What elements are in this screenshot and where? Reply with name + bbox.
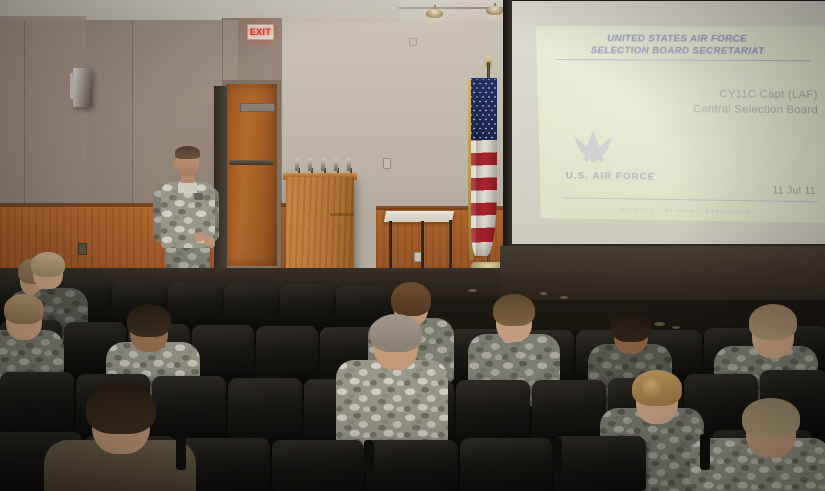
slide-body-line-1: CY11C Capt (LAF) (693, 87, 818, 103)
attendee-hair (370, 314, 422, 352)
auditorium-seat[interactable] (366, 440, 458, 491)
wall-outlet (409, 38, 417, 46)
attendee-hair (391, 282, 431, 316)
wall-panel-seam (132, 20, 133, 218)
slide-tagline: Integrity - Service - Excellence (541, 206, 825, 217)
podium-microphone (321, 158, 325, 171)
podium-shelf-line (330, 213, 354, 216)
officer-rank-insignia (194, 193, 203, 200)
auditorium-seat[interactable] (168, 282, 222, 328)
folding-table-top (384, 211, 454, 222)
flag-fold-shadow (476, 80, 484, 258)
slide-header-divider (557, 59, 811, 61)
slide-footer-divider (562, 197, 818, 202)
attendee-hair-bun (642, 378, 664, 397)
table-leg (449, 220, 452, 268)
seat-armrest (552, 438, 562, 472)
auditorium-seat[interactable] (554, 436, 646, 491)
ceiling-spot-light (426, 9, 443, 18)
attendee-hair (611, 308, 651, 342)
projected-slide: UNITED STATES AIR FORCE SELECTION BOARD … (536, 26, 825, 223)
auditorium-seat[interactable] (192, 325, 254, 379)
auditorium-seat[interactable] (0, 372, 74, 438)
podium-microphone (347, 158, 351, 171)
flag-stars (471, 79, 497, 139)
slide-date-label: 11 Jul 11 (772, 185, 816, 197)
auditorium-seat[interactable] (456, 380, 530, 446)
officer-hair (175, 146, 200, 159)
attendee-hair (742, 398, 800, 438)
floor-scuff-mark (468, 289, 477, 292)
attendee-hair (31, 252, 65, 277)
attendee-hair (493, 294, 535, 326)
officer-hand (204, 236, 215, 246)
slide-body-text: CY11C Capt (LAF) Central Selection Board (693, 87, 819, 118)
slide-brand-label: U.S. AIR FORCE (566, 170, 656, 182)
slide-header: UNITED STATES AIR FORCE SELECTION BOARD … (536, 33, 821, 57)
wall-left-panel-far (0, 16, 86, 221)
wall-panel-seam (24, 22, 25, 218)
attendee-hair (749, 304, 797, 340)
podium-wood-grain (286, 177, 354, 282)
auditorium-briefing-photo: EXIT UNITED STATES AIR FORCE SELECTION B… (0, 0, 825, 491)
slide-body-line-2: Central Selection Board (693, 102, 818, 118)
seat-armrest (364, 440, 374, 474)
attendee-hair (4, 294, 44, 324)
floor-scuff-mark (560, 296, 568, 299)
attendee-hair (86, 382, 156, 434)
screen-left-edge (503, 0, 512, 250)
podium-microphone (334, 158, 338, 171)
auditorium-seat[interactable] (272, 440, 364, 491)
seat-armrest (700, 434, 710, 470)
usaf-wings-icon (567, 122, 621, 171)
seat-armrest (176, 436, 186, 470)
attendee-hair (127, 304, 171, 337)
slide-header-line-1: UNITED STATES AIR FORCE (536, 33, 820, 45)
officer-ear (173, 160, 178, 168)
auditorium-seat[interactable] (228, 378, 302, 444)
exit-sign: EXIT (247, 24, 274, 40)
podium-microphone (295, 158, 299, 171)
auditorium-seat[interactable] (224, 283, 278, 329)
podium-microphone (308, 158, 312, 171)
ceiling-spot-light (486, 6, 503, 15)
wall-outlet (78, 243, 87, 255)
wall-outlet (383, 158, 391, 169)
auditorium-seat[interactable] (256, 326, 318, 380)
slide-header-line-2: SELECTION BOARD SECRETARIAT (536, 44, 820, 57)
floor-scuff-mark (654, 322, 665, 326)
wall-mounted-speaker-icon (73, 68, 92, 107)
exit-sign-label: EXIT (250, 28, 272, 37)
floor-scuff-mark (540, 292, 547, 295)
stage-front-face-right (500, 246, 825, 308)
door-sign-plate (240, 103, 275, 112)
door-push-bar[interactable] (229, 160, 274, 165)
auditorium-seat[interactable] (280, 284, 334, 330)
auditorium-seat[interactable] (152, 376, 226, 442)
floor-scuff-mark (672, 326, 680, 329)
table-leg (421, 221, 424, 271)
table-leg (389, 221, 392, 269)
auditorium-seat[interactable] (460, 438, 552, 491)
